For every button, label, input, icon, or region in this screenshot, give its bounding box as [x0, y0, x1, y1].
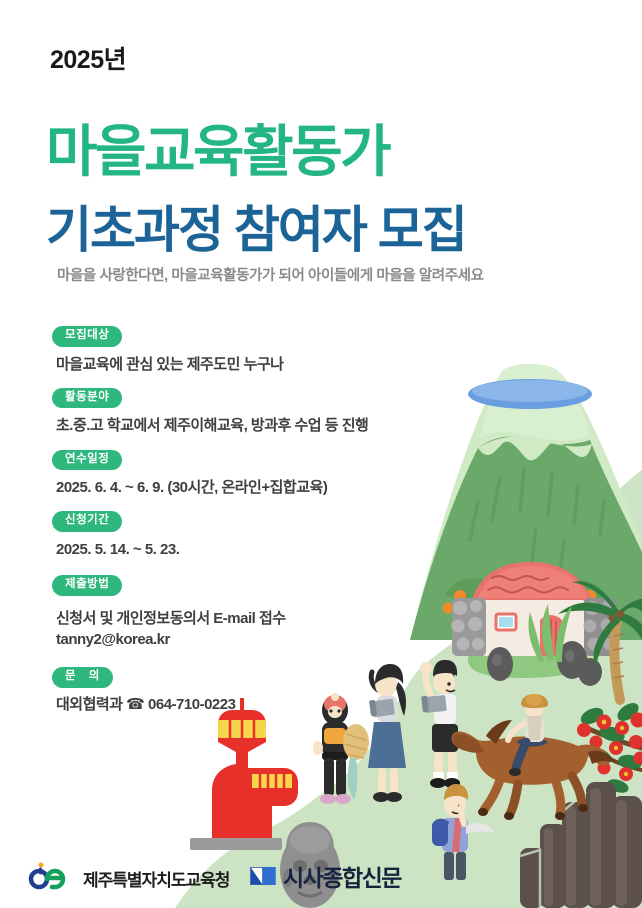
- section-activity-field: 활동분야 초.중.고 학교에서 제주이해교육, 방과후 수업 등 진행: [52, 387, 472, 437]
- section-application-period: 신청기간 2025. 5. 14. ~ 5. 23.: [52, 510, 472, 560]
- section-submission-method: 제출방법 신청서 및 개인정보동의서 E-mail 접수 tanny2@kore…: [52, 574, 472, 650]
- section-body-contact: 대외협력과 ☎ 064-710-0223: [56, 694, 472, 715]
- je-logo-icon: [24, 862, 74, 894]
- badge-application-period: 신청기간: [52, 511, 122, 532]
- open-book-icon: [248, 863, 278, 889]
- jeju-education-office-logo: 제주특별자치도교육청: [24, 862, 229, 894]
- badge-training-schedule: 연수일정: [52, 450, 122, 471]
- section-training-schedule: 연수일정 2025. 6. 4. ~ 6. 9. (30시간, 온라인+집합교육…: [52, 449, 472, 499]
- section-body-application-period: 2025. 5. 14. ~ 5. 23.: [56, 539, 472, 560]
- poster-footer: 제주특별자치도교육청 시사종합신문: [0, 846, 642, 908]
- section-contact: 문 의 대외협력과 ☎ 064-710-0223: [52, 666, 472, 715]
- press-watermark: 시사종합신문: [248, 859, 401, 893]
- poster-content: 2025년 마을교육활동가 기초과정 참여자 모집 마을을 사랑한다면, 마을교…: [0, 0, 642, 908]
- poster-title-line2: 기초과정 참여자 모집: [46, 205, 466, 256]
- section-body-activity-field: 초.중.고 학교에서 제주이해교육, 방과후 수업 등 진행: [56, 415, 472, 436]
- office-name: 제주특별자치도교육청: [83, 866, 229, 891]
- poster-title-line1: 마을교육활동가: [46, 123, 389, 180]
- section-body-training-schedule: 2025. 6. 4. ~ 6. 9. (30시간, 온라인+집합교육): [56, 477, 472, 498]
- badge-recruitment-target: 모집대상: [52, 326, 122, 347]
- poster-lede: 마을을 사랑한다면, 마을교육활동가가 되어 아이들에게 마을을 알려주세요: [57, 265, 484, 289]
- press-name: 시사종합신문: [283, 859, 401, 893]
- year-label: 2025년: [50, 40, 126, 76]
- badge-submission-method: 제출방법: [52, 575, 122, 596]
- poster-canvas: 2025년 마을교육활동가 기초과정 참여자 모집 마을을 사랑한다면, 마을교…: [0, 0, 642, 908]
- section-body-submission-method: 신청서 및 개인정보동의서 E-mail 접수 tanny2@korea.kr: [56, 608, 472, 651]
- badge-contact: 문 의: [52, 667, 113, 688]
- badge-activity-field: 활동분야: [52, 388, 122, 409]
- section-body-recruitment-target: 마을교육에 관심 있는 제주도민 누구나: [56, 354, 472, 375]
- section-recruitment-target: 모집대상 마을교육에 관심 있는 제주도민 누구나: [52, 325, 472, 375]
- info-sections: 모집대상 마을교육에 관심 있는 제주도민 누구나 활동분야 초.중.고 학교에…: [52, 325, 472, 725]
